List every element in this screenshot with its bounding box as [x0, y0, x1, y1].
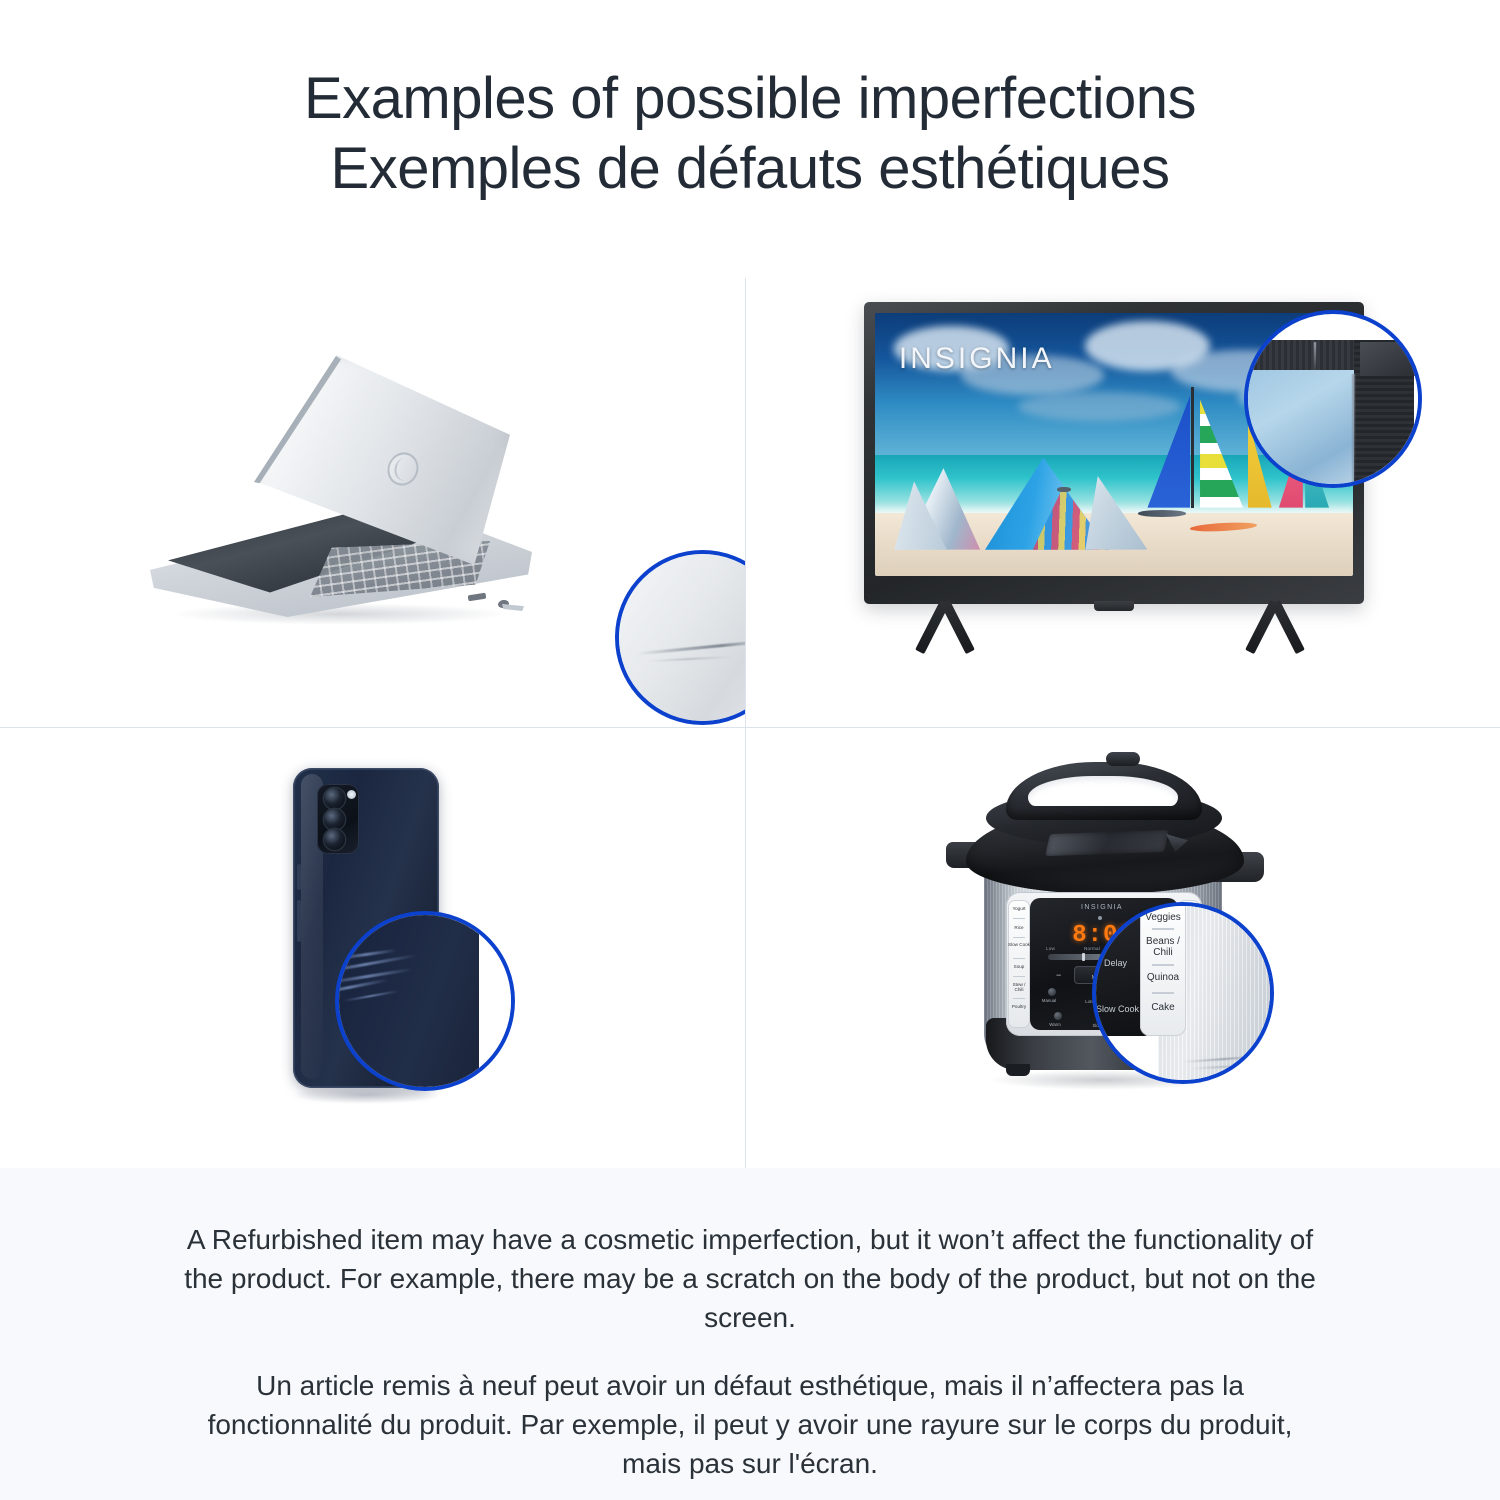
tv-bezel-crack [1314, 342, 1316, 376]
phone-camera-lens [324, 809, 345, 830]
tv-bezel-scuff [1352, 374, 1355, 484]
pressure-cooker-panel: Yogurt Rice Slow Cook Soup Stew / Chili … [746, 728, 1500, 1168]
cooker-foot [1006, 1064, 1030, 1076]
cooker-steam-valve [1106, 752, 1140, 766]
cooker-program-label[interactable]: Soup [1008, 964, 1030, 969]
phone-camera-lens [324, 788, 345, 809]
page-title-fr: Exemples de défauts esthétiques [331, 134, 1170, 204]
cooker-key-label: Manual [1032, 998, 1066, 1003]
cooker-label-separator [1013, 918, 1025, 919]
cooker-label-separator [1013, 937, 1025, 938]
laptop-image [150, 355, 580, 655]
laptop-hinge-foot [502, 604, 524, 611]
page-title-en: Examples of possible imperfections [304, 64, 1196, 134]
tv-sailboat-mast [1191, 387, 1193, 508]
phone-image [283, 768, 483, 1128]
cooker-magnified-label[interactable]: Cake [1140, 1002, 1186, 1013]
tv-ir-receiver [1094, 601, 1134, 611]
phone-magnified-surface [339, 915, 511, 1087]
cooker-program-label[interactable]: Poultry [1008, 1004, 1030, 1009]
tv-leg-left [906, 602, 990, 660]
phone-magnified-back [335, 911, 479, 1091]
cooker-magnified-separator [1152, 992, 1174, 994]
cooker-key-warm[interactable] [1054, 1012, 1062, 1020]
pressure-cooker-image: Yogurt Rice Slow Cook Soup Stew / Chili … [944, 746, 1284, 1106]
phone-camera-lens [324, 829, 345, 850]
cooker-slider-tick [1082, 953, 1085, 961]
phone-power-button [297, 864, 301, 890]
tv-magnified-corner [1360, 342, 1416, 376]
cooker-label-separator [1013, 998, 1025, 999]
laptop-magnified-surface [619, 554, 745, 721]
tv-image: INSIGNIA [864, 302, 1364, 677]
tv-beach-kayak [1138, 510, 1186, 516]
cooker-magnified-left-label: Delay [1104, 958, 1127, 968]
laptop-panel [0, 250, 745, 727]
laptop-scratch-secondary [647, 656, 733, 662]
laptop-port-usbc [468, 593, 487, 602]
cooker-magnified-separator [1152, 928, 1174, 930]
cooker-slider-label-low: Low [1046, 946, 1055, 951]
cooker-magnified-label[interactable]: Veggies [1140, 912, 1186, 923]
cooker-label-separator [1013, 958, 1025, 959]
phone-panel [0, 728, 745, 1168]
cooker-program-label[interactable]: Slow Cook [1008, 942, 1030, 947]
tv-magnified-surface [1248, 314, 1418, 484]
cooker-magnified-separator [1152, 964, 1174, 966]
page-title: Examples of possible imperfections Exemp… [0, 0, 1500, 250]
cooker-program-label[interactable]: Yogurt [1008, 906, 1030, 911]
cooker-handle-opening [1028, 776, 1178, 806]
tv-magnified-screen-area [1244, 366, 1362, 488]
phone-defect-magnifier [335, 911, 515, 1091]
phone-volume-button [297, 900, 301, 942]
refurbished-imperfections-page: Examples of possible imperfections Exemp… [0, 0, 1500, 1500]
cooker-program-label[interactable]: Stew / Chili [1008, 982, 1030, 993]
tv-brand-logo: INSIGNIA [899, 342, 1055, 376]
tv-defect-magnifier [1244, 310, 1422, 488]
description-section: A Refurbished item may have a cosmetic i… [0, 1168, 1500, 1500]
cooker-key-manual[interactable] [1048, 988, 1056, 996]
cooker-program-label[interactable]: Rice [1008, 925, 1030, 930]
description-fr: Un article remis à neuf peut avoir un dé… [180, 1366, 1320, 1484]
cooker-key-label: Warm [1038, 1022, 1072, 1027]
cooker-label-separator [1013, 976, 1025, 977]
phone-scratch [343, 990, 398, 1002]
laptop-scratch-primary [637, 640, 745, 655]
laptop-defect-magnifier [615, 550, 745, 725]
product-examples-grid: INSIGNIA [0, 250, 1500, 1168]
tv-cloud [1018, 392, 1181, 421]
cooker-magnified-left-label: Slow Cook [1096, 1004, 1139, 1014]
cooker-lid-graphic [1045, 830, 1169, 856]
tv-leg-right [1236, 602, 1320, 660]
tv-distant-boat [1057, 487, 1071, 493]
cooker-decrement-button[interactable]: − [1056, 970, 1061, 980]
cooker-defect-magnifier: Veggies Beans / Chili Quinoa Cake Delay … [1092, 902, 1274, 1084]
cooker-magnified-surface: Veggies Beans / Chili Quinoa Cake Delay … [1096, 906, 1270, 1080]
phone-camera-module [317, 784, 359, 854]
description-en: A Refurbished item may have a cosmetic i… [180, 1220, 1320, 1338]
tv-panel: INSIGNIA [746, 250, 1500, 727]
cooker-magnified-label[interactable]: Quinoa [1140, 972, 1186, 983]
phone-flash-icon [347, 790, 356, 799]
cooker-magnified-label[interactable]: Beans / Chili [1140, 936, 1186, 958]
